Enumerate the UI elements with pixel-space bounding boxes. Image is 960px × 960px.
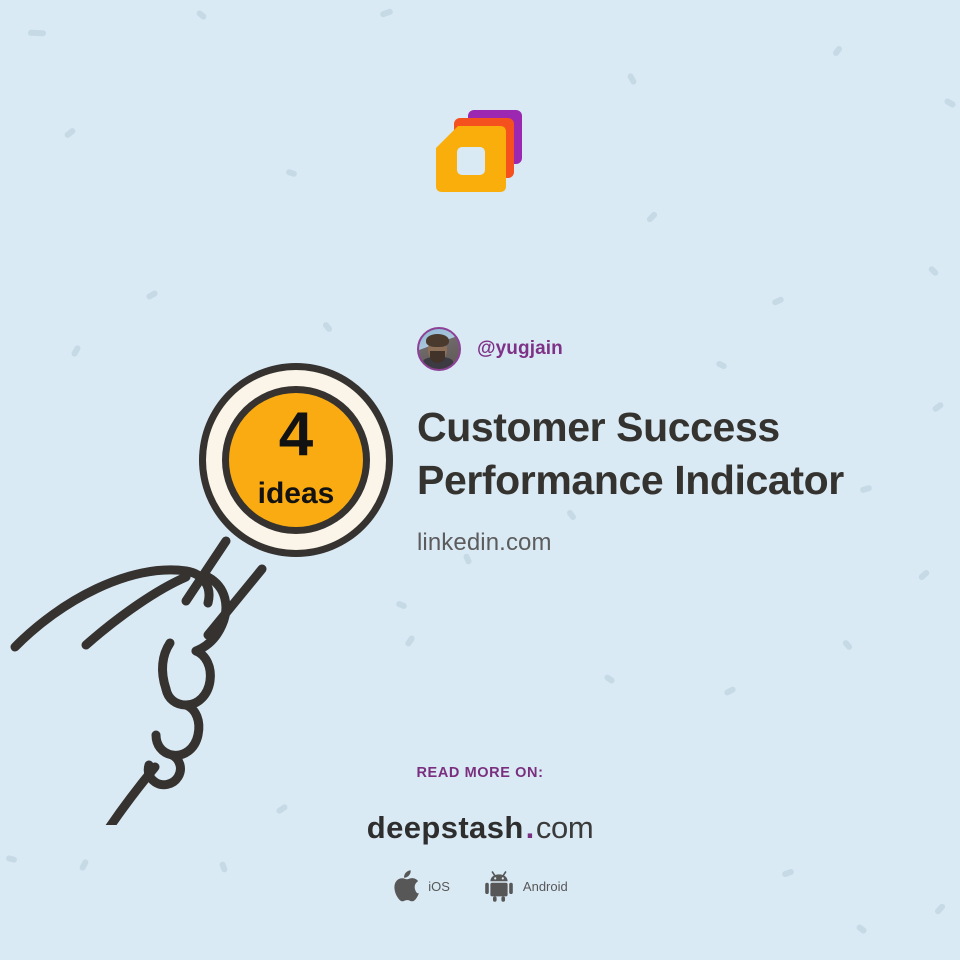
card-footer: READ MORE ON: deepstash.com iOS (0, 765, 960, 902)
speckle (842, 639, 854, 651)
magnifier-svg: 4 ideas (0, 355, 430, 825)
article-source[interactable]: linkedin.com (417, 529, 917, 557)
speckle (28, 30, 46, 37)
speckle (943, 97, 956, 108)
android-icon (484, 870, 514, 902)
speckle (771, 296, 784, 306)
avatar-photo-beard (430, 351, 445, 363)
speckle (379, 8, 393, 18)
idea-unit: ideas (258, 477, 335, 510)
speckle (627, 72, 638, 85)
ios-label: iOS (428, 879, 450, 894)
author-handle[interactable]: @yugjain (477, 338, 563, 360)
wordmark-dot: . (524, 810, 536, 845)
avatar[interactable] (417, 327, 461, 371)
apple-icon (392, 870, 419, 902)
logo-front-cutout (457, 147, 485, 175)
speckle (855, 923, 867, 935)
speckle (285, 168, 297, 177)
idea-count: 4 (279, 400, 314, 469)
android-label: Android (523, 879, 568, 894)
speckle (723, 686, 736, 697)
speckle (927, 265, 939, 277)
speckle (603, 673, 615, 684)
speckle (322, 321, 334, 333)
ios-store-link[interactable]: iOS (392, 870, 450, 902)
wordmark-tld: com (536, 810, 593, 845)
byline[interactable]: @yugjain (417, 326, 917, 372)
logo-svg (432, 104, 528, 200)
read-more-label: READ MORE ON: (0, 765, 960, 781)
speckle (931, 401, 944, 413)
article-title: Customer Success Performance Indicator (417, 401, 917, 507)
article-content: @yugjain Customer Success Performance In… (417, 326, 917, 557)
deepstash-logo (432, 104, 528, 200)
avatar-photo-hair (426, 334, 449, 347)
speckle (646, 211, 659, 224)
speckle (832, 45, 844, 57)
android-store-link[interactable]: Android (484, 870, 568, 902)
speckle (63, 127, 76, 139)
speckle (195, 9, 207, 21)
app-store-links: iOS (0, 870, 960, 902)
speckle (145, 289, 158, 300)
deepstash-wordmark[interactable]: deepstash.com (0, 810, 960, 846)
speckle (934, 903, 946, 916)
speckle (918, 569, 931, 581)
magnifier-illustration: 4 ideas (0, 355, 430, 825)
wordmark-name: deepstash (367, 810, 524, 845)
deepstash-share-card: 4 ideas @yugjain Customer Success Perfor… (0, 0, 960, 960)
